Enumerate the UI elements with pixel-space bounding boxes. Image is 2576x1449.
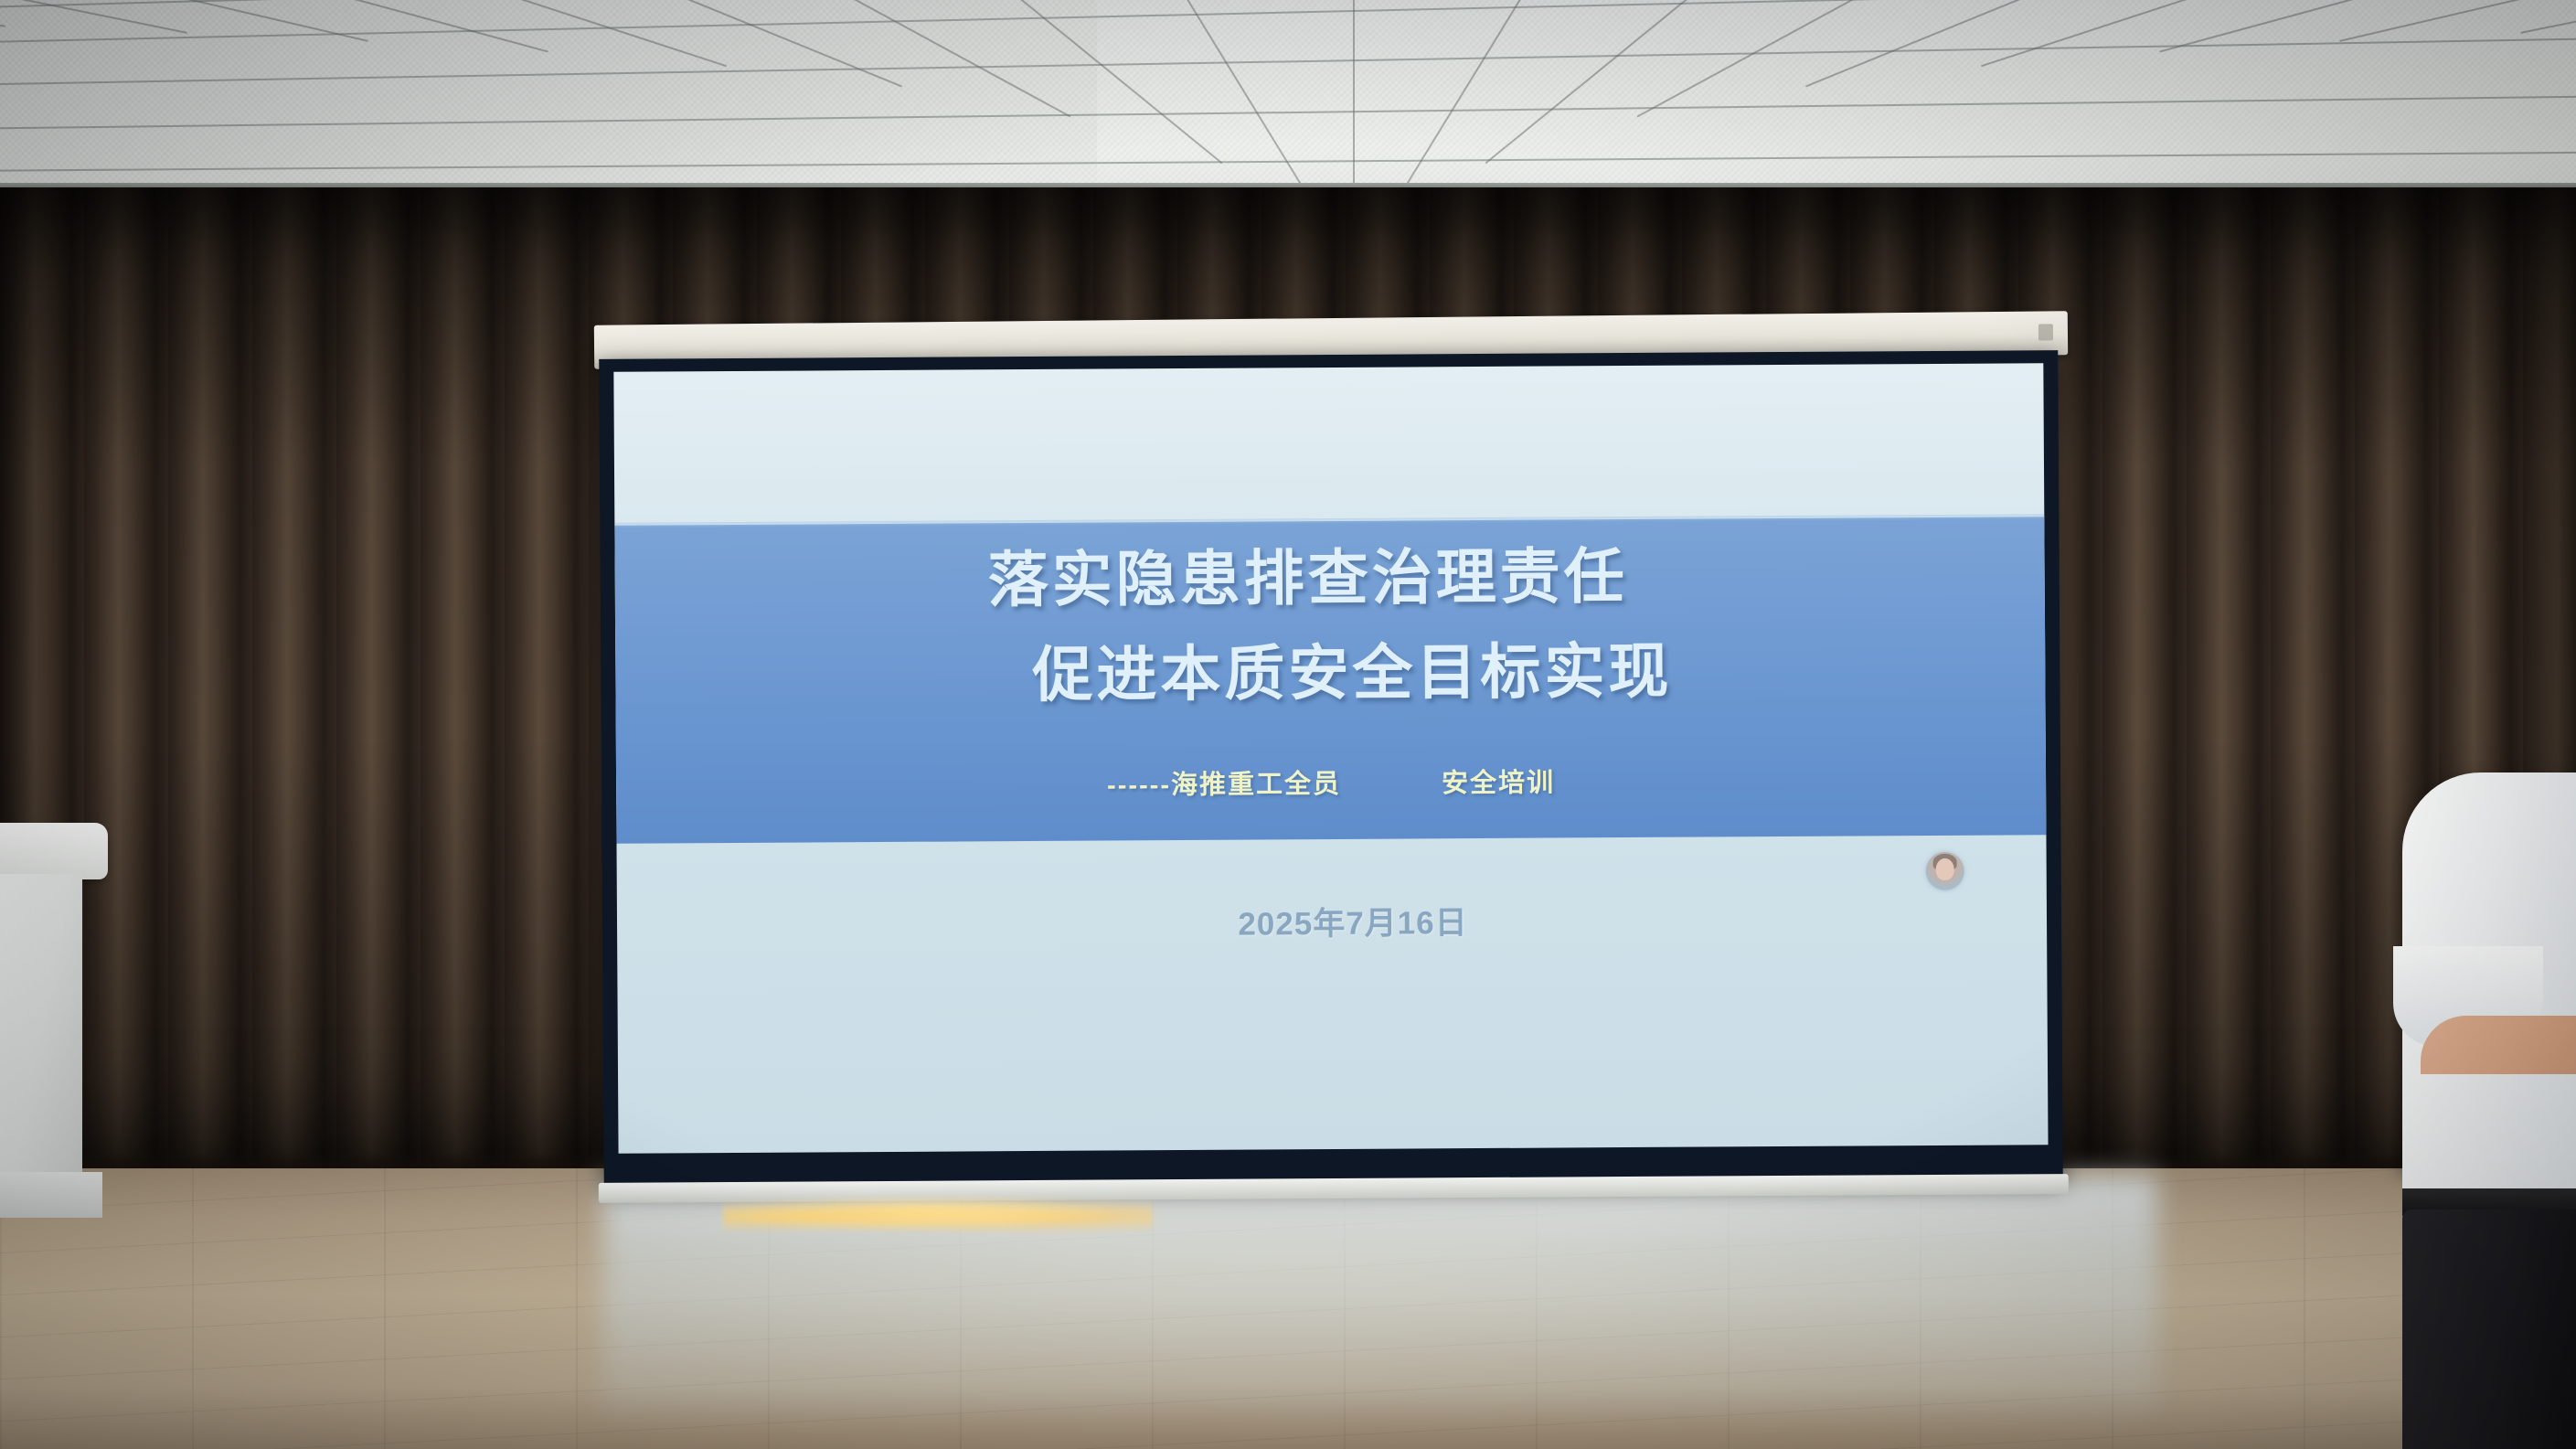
presentation-slide: 落实隐患排查治理责任 促进本质安全目标实现 ------海推重工全员 安全培训 … xyxy=(613,363,2048,1154)
lectern-top xyxy=(0,823,108,879)
avatar-face xyxy=(1936,858,1954,880)
lectern-body xyxy=(0,874,82,1176)
ceiling-grid-runner xyxy=(1637,0,1903,117)
ceiling-grid-runner xyxy=(987,0,1222,164)
attendee-shirt-hem xyxy=(2402,1074,2576,1202)
standing-attendee xyxy=(2402,772,2576,1449)
slide-title-line-2: 促进本质安全目标实现 xyxy=(637,637,2048,709)
ceiling-grid-runner xyxy=(1485,0,1720,164)
slide-subtitle-right: 安全培训 xyxy=(1442,762,1555,801)
housing-end-cap xyxy=(2038,324,2053,340)
slide-subtitle-left: ------海推重工全员 xyxy=(1107,762,1341,803)
ceiling-grid-line xyxy=(0,95,2576,130)
attendee-trousers xyxy=(2402,1209,2576,1449)
screen-bottom-light-reflection xyxy=(723,1196,1153,1235)
ceiling-grid-runner xyxy=(2339,0,2576,42)
lectern xyxy=(0,823,108,1207)
ceiling-grid-runner xyxy=(2520,0,2576,34)
ceiling-grid-runner xyxy=(0,0,5,27)
slide-date: 2025年7月16日 xyxy=(617,893,2047,949)
slide-title-line-1: 落实隐患排查治理责任 xyxy=(613,542,2023,614)
conference-room-photo: 落实隐患排查治理责任 促进本质安全目标实现 ------海推重工全员 安全培训 … xyxy=(0,0,2576,1449)
projection-screen: 落实隐患排查治理责任 促进本质安全目标实现 ------海推重工全员 安全培训 … xyxy=(599,350,2062,1187)
lectern-base xyxy=(0,1172,102,1218)
ceiling-grid-runner xyxy=(623,0,902,87)
screen-surface: 落实隐患排查治理责任 促进本质安全目标实现 ------海推重工全员 安全培训 … xyxy=(613,363,2048,1154)
presenter-avatar-icon xyxy=(1926,852,1964,890)
